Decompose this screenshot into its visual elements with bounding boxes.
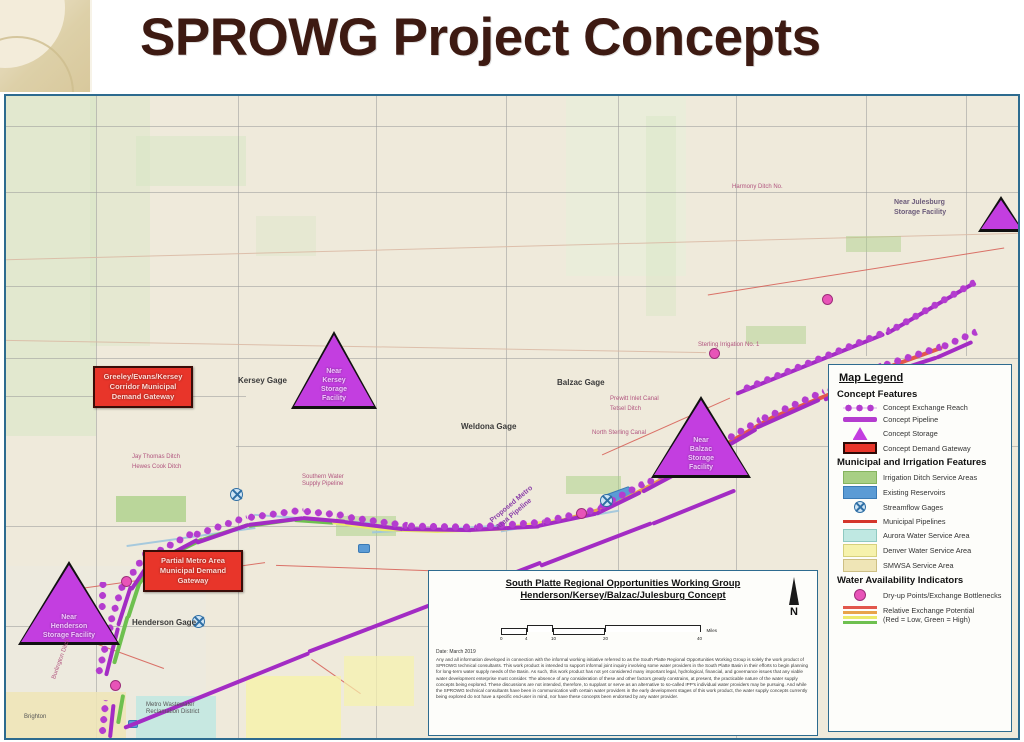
legend-section-heading-municipal: Municipal and Irrigation Features [837,457,1003,468]
triangle-icon [843,427,877,440]
tan-box-icon [843,559,877,572]
feature-label-tetsel-ditch: Tetsel Ditch [610,406,641,412]
pipeline-icon [843,414,877,425]
legend-label: Streamflow Gages [883,503,943,512]
legend-label: Municipal Pipelines [883,517,945,526]
legend-label: Aurora Water Service Area [883,531,970,540]
north-arrow: N [779,577,809,618]
inset-title-block: South Platte Regional Opportunities Work… [428,570,818,736]
dry-up-point [576,508,587,519]
legend-label: Dry-up Points/Exchange Bottlenecks [883,591,1001,600]
legend-section-heading-water-availability: Water Availability Indicators [837,575,1003,586]
scale-tick: 20 [603,636,608,641]
page-title: SPROWG Project Concepts [140,7,821,68]
county-line [6,358,1018,359]
legend-label: Concept Pipeline [883,415,938,424]
legend-title: Map Legend [839,372,1003,384]
legend-item-concept-exchange-reach: Concept Exchange Reach [843,403,1003,412]
scale-units: Miles [706,628,717,633]
legend-item-denver-water-service-area: Denver Water Service Area [843,544,1003,557]
north-arrow-icon [789,577,799,605]
gradient-bars-icon [843,604,877,626]
magenta-dot-icon [843,589,877,602]
legend-item-streamflow-gages: Streamflow Gages [843,501,1003,514]
legend-label: Irrigation Ditch Service Areas [883,473,977,482]
feature-label-jay-thomas: Jay Thomas Ditch [132,454,180,460]
demand-gateway-greeley[interactable]: Greeley/Evans/Kersey Corridor Municipal … [93,366,193,408]
dry-up-point [822,294,833,305]
gateway-label-line-1: Greeley/Evans/Kersey [98,372,188,382]
storage-triangle-kersey[interactable]: Near Kersey Storage Facility [291,331,377,409]
scale-bar: 0 4 10 20 40 Miles [501,619,701,641]
legend-item-aurora-water-service-area: Aurora Water Service Area [843,529,1003,542]
legend-item-concept-pipeline: Concept Pipeline [843,414,1003,425]
legend-item-smwsa-service-area: SMWSA Service Area [843,559,1003,572]
feature-label-harmony-ditch: Harmony Ditch No. [732,184,783,190]
storage-label-julesburg-1: Near Julesburg [894,199,945,206]
demand-gateway-partial-metro[interactable]: Partial Metro Area Municipal Demand Gate… [143,550,243,592]
irrigation-service-area [116,496,186,522]
gage-label-kersey: Kersey Gage [238,376,287,385]
streamflow-gage [230,488,243,501]
map-date: Date: March 2019 [436,649,476,655]
county-line [866,96,867,356]
gage-icon [843,501,877,514]
streamflow-gage [600,494,613,507]
legend-label: Denver Water Service Area [883,546,971,555]
legend-item-concept-storage: Concept Storage [843,427,1003,440]
dry-up-point [709,348,720,359]
storage-label-julesburg-2: Storage Facility [894,209,946,216]
storage-label-kersey: Near Kersey Storage Facility [291,367,377,403]
legend-label-block: Relative Exchange Potential (Red = Low, … [883,606,974,624]
title-banner: SPROWG Project Concepts [0,0,1024,92]
green-box-icon [843,471,877,484]
legend-label-line-1: Relative Exchange Potential [883,606,974,615]
north-label: N [779,606,809,618]
reach-icon [843,404,877,412]
county-line [376,96,377,738]
legend-label-line-2: (Red = Low, Green = High) [883,615,974,624]
storage-triangle-julesburg[interactable] [978,196,1018,232]
existing-reservoir [358,544,370,553]
legend-item-existing-reservoirs: Existing Reservoirs [843,486,1003,499]
blue-box-icon [843,486,877,499]
feature-label-prewitt-canal: Prewitt Inlet Canal [610,396,659,402]
storage-label-henderson: Near Henderson Storage Facility [18,613,120,640]
storage-triangle-balzac[interactable]: Near Balzac Storage Facility [651,396,751,478]
gateway-label-line-2: Corridor Municipal [98,382,188,392]
map-canvas[interactable]: Near Julesburg Storage Facility Near Ker… [6,96,1018,738]
legend-label: Concept Exchange Reach [883,403,968,412]
gateway-label-line-2: Municipal Demand [148,566,238,576]
county-line [238,96,239,738]
legend-section-heading-concept: Concept Features [837,389,1003,400]
gage-label-balzac: Balzac Gage [557,378,605,387]
legend-label: SMWSA Service Area [883,561,954,570]
terrain-foothills [90,96,150,346]
gateway-label-line-3: Demand Gateway [98,392,188,402]
legend-item-relative-exchange-potential: Relative Exchange Potential (Red = Low, … [843,604,1003,626]
legend-label: Concept Storage [883,429,938,438]
terrain-forest-b [256,216,316,256]
scale-tick: 40 [697,636,702,641]
yellow-box-icon [843,544,877,557]
feature-label-brighton: Brighton [24,714,46,720]
terrain-forest-a [136,136,246,186]
denver-service-area [344,656,414,706]
concept-exchange-reach [406,522,476,531]
feature-label-southern-water: Southern Water Supply Pipeline [302,474,352,488]
disclaimer-text: Any and all information developed in con… [436,657,810,700]
gage-label-henderson: Henderson Gage [132,618,196,627]
inset-title: South Platte Regional Opportunities Work… [435,578,811,602]
feature-label-sterling-irrigation: Sterling Irrigation No. 1 [698,342,759,348]
irrigation-service-area [846,236,901,252]
county-line [966,96,967,356]
feature-label-metro-wastewater: Metro Wastewater Reclamation District [146,702,226,716]
gage-label-weldona: Weldona Gage [461,422,516,431]
gateway-label-line-1: Partial Metro Area [148,556,238,566]
legend-item-municipal-pipelines: Municipal Pipelines [843,516,1003,527]
inset-title-line-2: Henderson/Kersey/Balzac/Julesburg Concep… [435,590,811,602]
scale-tick: 10 [551,636,556,641]
inset-title-line-1: South Platte Regional Opportunities Work… [435,578,811,590]
gateway-label-line-3: Gateway [148,576,238,586]
storage-label-balzac: Near Balzac Storage Facility [651,436,751,472]
dry-up-point [110,680,121,691]
map-frame[interactable]: Near Julesburg Storage Facility Near Ker… [4,94,1020,740]
legend-label: Concept Demand Gateway [883,444,971,453]
legend-item-concept-demand-gateway: Concept Demand Gateway [843,442,1003,454]
cyan-box-icon [843,529,877,542]
feature-label-north-sterling: North Sterling Canal [592,430,646,436]
red-line-icon [843,516,877,527]
terrain-mountains [6,96,96,436]
storage-triangle-henderson[interactable]: Near Henderson Storage Facility [18,561,120,645]
legend-label: Existing Reservoirs [883,488,945,497]
dry-up-point [121,576,132,587]
legend-item-dry-up-points: Dry-up Points/Exchange Bottlenecks [843,589,1003,602]
scale-tick: 0 [500,636,503,641]
legend-item-irrigation-ditch-service-areas: Irrigation Ditch Service Areas [843,471,1003,484]
red-box-icon [843,442,877,454]
scale-tick: 4 [525,636,528,641]
feature-label-hewes-cook: Hewes Cook Ditch [132,464,181,470]
denver-service-area [246,676,341,738]
banner-decoration-icon [0,0,92,92]
map-legend: Map Legend Concept Features Concept Exch… [828,364,1012,732]
